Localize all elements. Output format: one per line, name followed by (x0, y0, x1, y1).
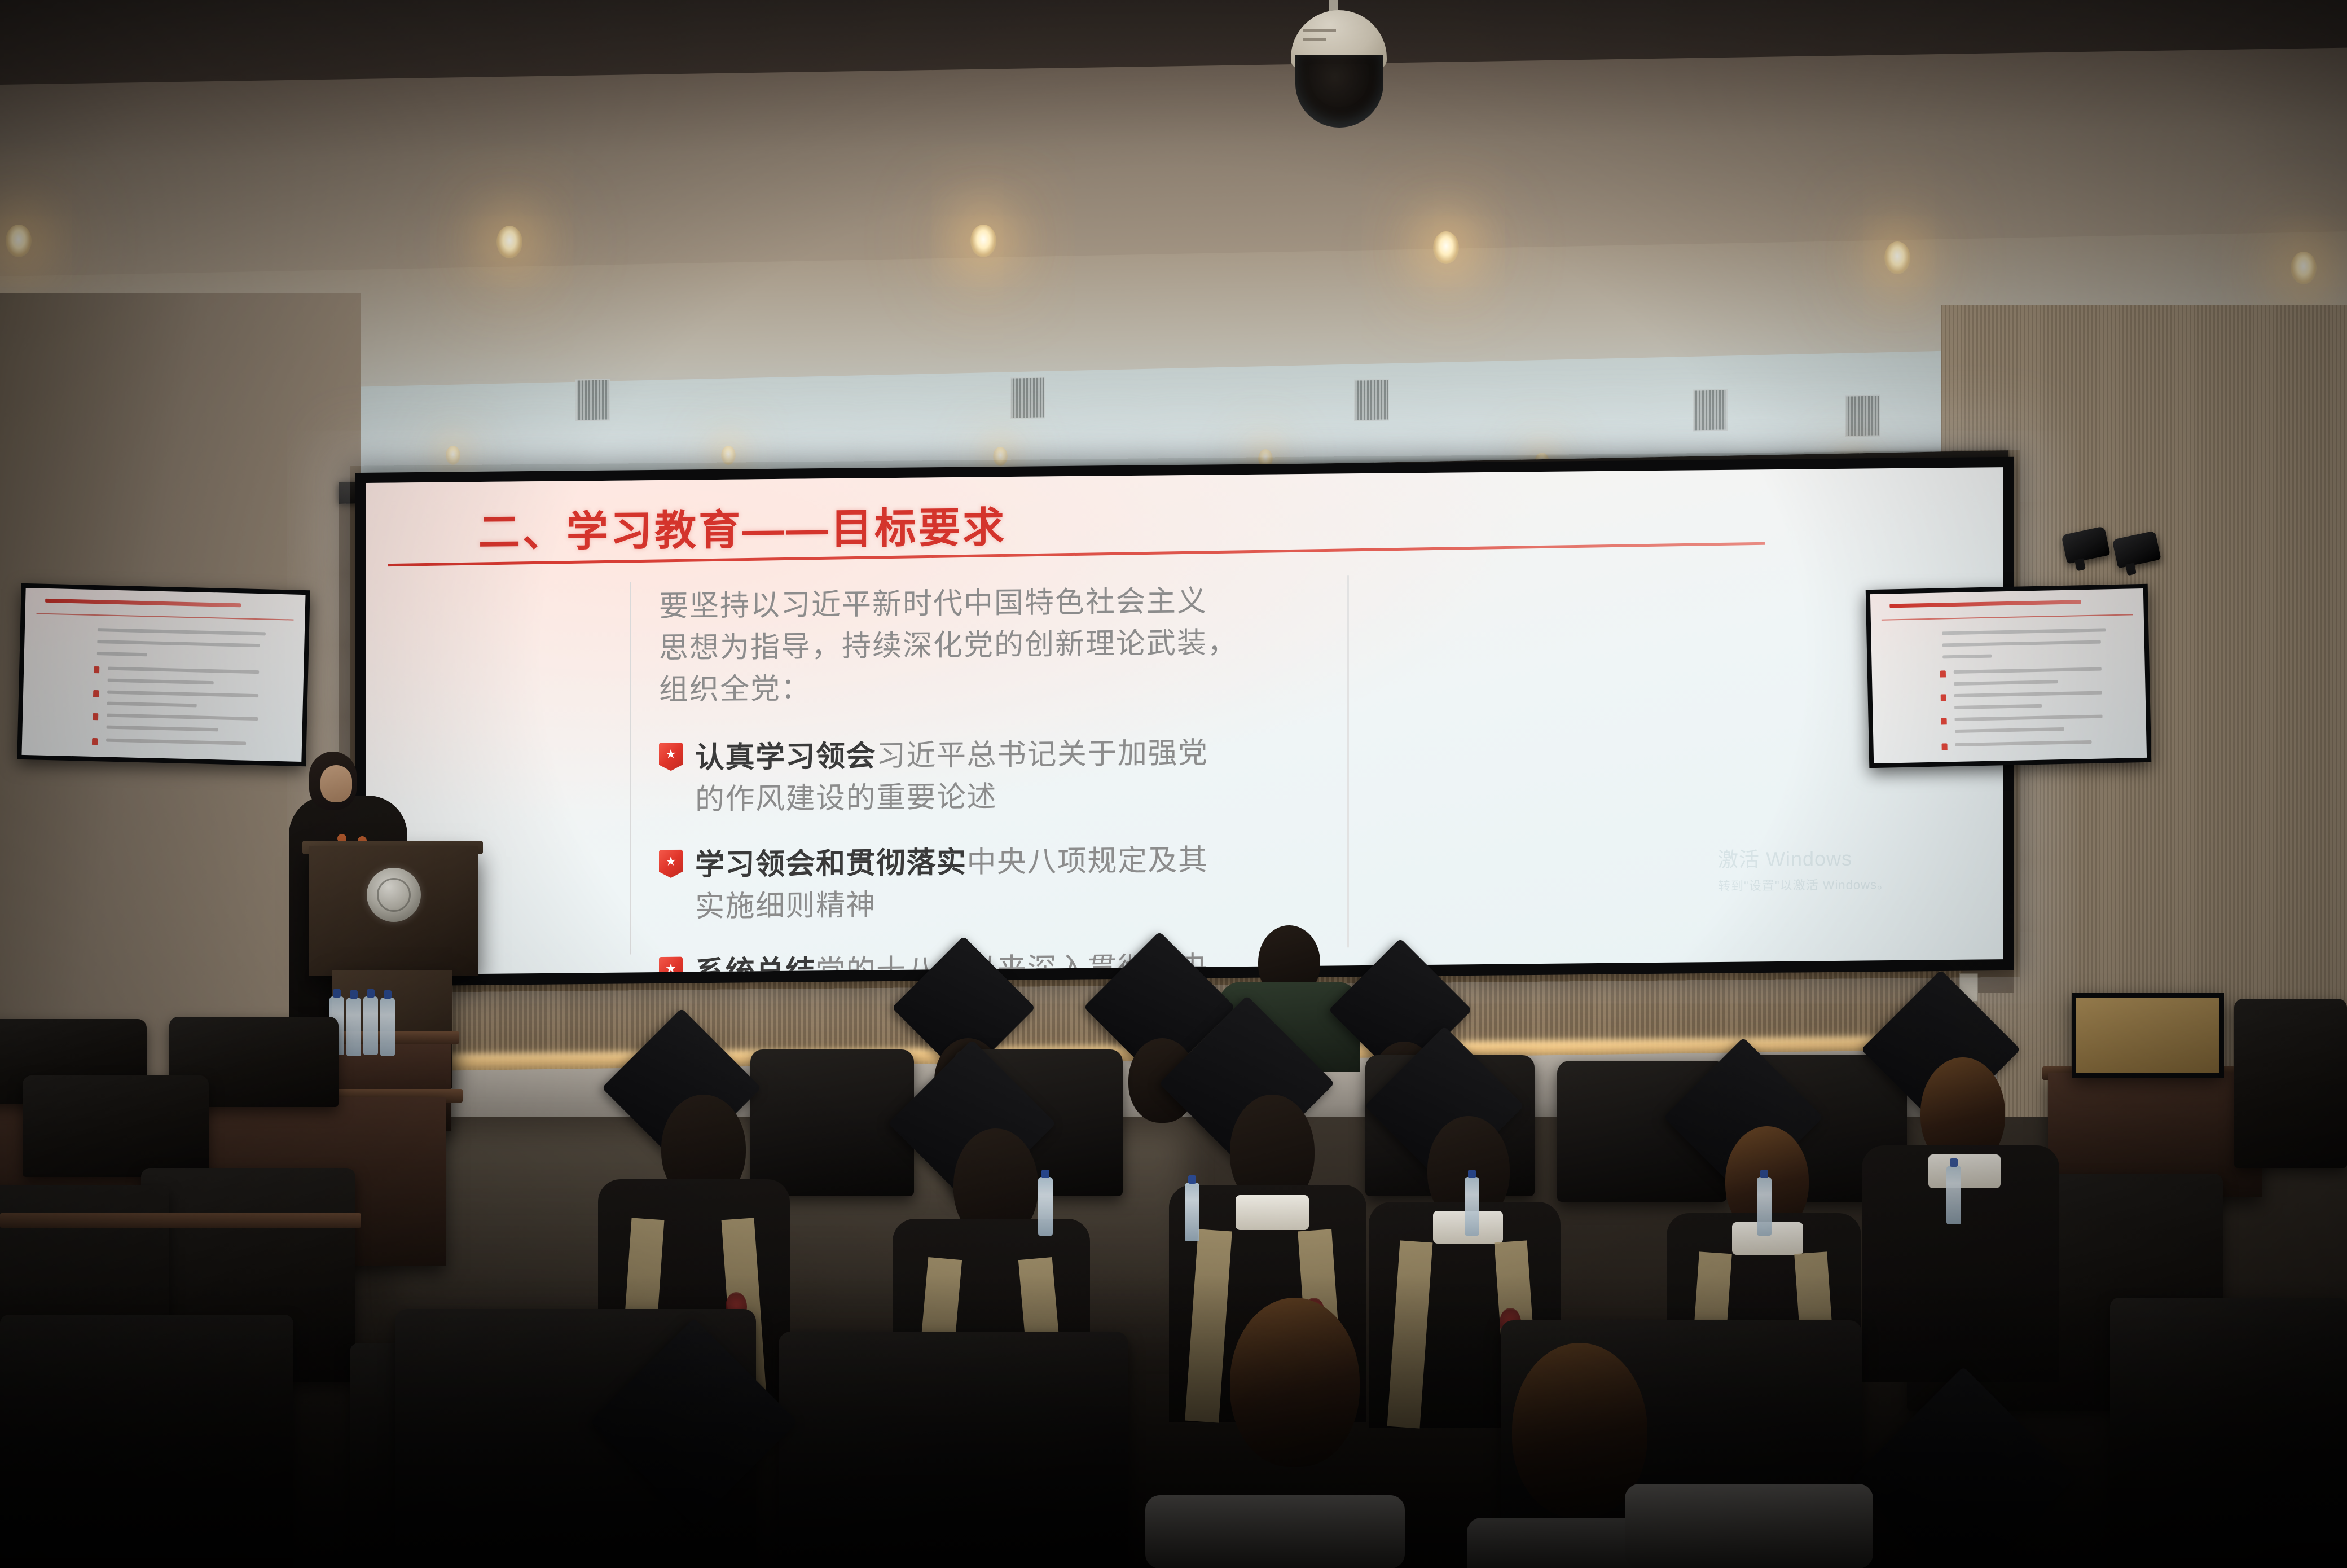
air-vent-icon (1845, 394, 1880, 437)
mini-bullet-icon (92, 738, 98, 745)
audience-collar (1928, 1154, 2001, 1188)
mini-text-line (97, 652, 147, 656)
left-monitor-screen (21, 588, 305, 762)
water-bottle-icon (346, 998, 361, 1056)
mini-text-line (106, 725, 218, 731)
seat-headrest (1145, 1495, 1405, 1568)
empty-chair[interactable] (2234, 999, 2347, 1168)
foreground-seatback[interactable] (779, 1332, 1128, 1568)
mini-bullet-icon (93, 713, 98, 720)
mini-text-line (98, 628, 266, 635)
mini-text-line (1955, 715, 2102, 721)
empty-chair[interactable] (23, 1075, 209, 1177)
presenter-face (320, 765, 352, 802)
slide-left-divider (630, 582, 631, 954)
empty-chair[interactable] (2110, 1298, 2347, 1568)
mini-text-line (107, 678, 214, 684)
mini-bullet-icon (1940, 670, 1946, 677)
conference-hall-scene: 二、学习教育——目标要求 要坚持以习近平新时代中国特色社会主义 思想为指导，持续… (0, 0, 2347, 1568)
water-bottle-icon (1185, 1183, 1199, 1241)
mini-text-line (1955, 727, 2064, 733)
camera-label-strip (1303, 29, 1336, 32)
mini-text-line (1955, 740, 2092, 746)
mini-bullet-icon (93, 690, 99, 697)
mini-text-line (1954, 680, 2058, 686)
left-wall-monitor[interactable] (17, 583, 310, 766)
slide-bullet-list: ★ 认真学习领会习近平总书记关于加强党 的作风建设的重要论述 ★ 学习领会和贯彻… (659, 732, 1353, 975)
ceiling-downlight-icon (993, 447, 1008, 466)
projection-screen[interactable]: 二、学习教育——目标要求 要坚持以习近平新时代中国特色社会主义 思想为指导，持续… (366, 467, 2003, 975)
slide-bullet-text: 学习领会和贯彻落实中央八项规定及其 实施细则精神 (695, 838, 1353, 928)
red-flag-bullet-icon: ★ (659, 850, 683, 878)
mini-text-line (107, 714, 258, 721)
seat-headrest (1625, 1484, 1873, 1568)
mini-text-line (1942, 628, 2106, 635)
water-bottle-icon (380, 998, 395, 1056)
slide-bullet-item: ★ 学习领会和贯彻落实中央八项规定及其 实施细则精神 (659, 838, 1353, 928)
mini-text-line (106, 739, 246, 745)
mini-text-line (1954, 704, 2042, 709)
camera-label-strip (1303, 38, 1326, 41)
slide-bullet-highlight: 学习领会和贯彻落实 (695, 846, 967, 882)
ceiling-downlight-icon (1433, 231, 1459, 264)
audience-desk-top (0, 1213, 361, 1228)
slide-intro-paragraph: 要坚持以习近平新时代中国特色社会主义 思想为指导，持续深化党的创新理论武装， 组… (659, 579, 1353, 711)
slide-body: 要坚持以习近平新时代中国特色社会主义 思想为指导，持续深化党的创新理论武装， 组… (659, 579, 1353, 975)
foreground-head (1230, 1298, 1360, 1467)
air-vent-icon (1693, 389, 1728, 431)
watermark-line-1: 激活 Windows (1718, 842, 1890, 873)
slide-bullet-highlight: 认真学习领会 (695, 740, 876, 775)
mini-slide-title (45, 599, 241, 607)
ceiling-downlight-icon (721, 446, 736, 465)
empty-chair[interactable] (0, 1315, 293, 1568)
water-bottle-icon (363, 996, 378, 1055)
mini-text-line (108, 667, 259, 674)
mini-text-line (107, 690, 258, 697)
mini-text-line (1942, 655, 1992, 659)
water-bottle-icon (1946, 1166, 1961, 1224)
mini-bullet-icon (1941, 743, 1947, 750)
ceiling-downlight-icon (1884, 241, 1910, 274)
slide-title: 二、学习教育——目标要求 (478, 494, 1007, 559)
institution-emblem-icon (367, 868, 421, 922)
desk-monitor[interactable] (2072, 993, 2224, 1078)
mini-slide-title (1889, 600, 2081, 608)
mini-text-line (1954, 691, 2102, 697)
air-vent-icon (1354, 379, 1389, 421)
slide-bullet-item: ★ 认真学习领会习近平总书记关于加强党 的作风建设的重要论述 (659, 732, 1353, 822)
desk-monitor-screen (2076, 998, 2219, 1073)
mini-text-line (1942, 640, 2101, 647)
red-flag-bullet-icon: ★ (659, 743, 683, 771)
slide-bullet-text: 认真学习领会习近平总书记关于加强党 的作风建设的重要论述 (695, 732, 1353, 822)
right-monitor-screen (1870, 588, 2147, 763)
windows-activation-watermark: 激活 Windows 转到"设置"以激活 Windows。 (1718, 842, 1890, 894)
water-bottle-icon (1757, 1177, 1772, 1236)
air-vent-icon (575, 379, 610, 421)
mini-slide-rule (1882, 614, 2133, 620)
water-bottle-icon (1038, 1177, 1053, 1236)
ceiling-downlight-icon (6, 225, 32, 257)
ceiling-downlight-icon (446, 446, 460, 465)
mini-bullet-icon (1941, 694, 1946, 701)
mini-text-line (107, 702, 196, 708)
air-vent-icon (1010, 376, 1045, 419)
right-wall-monitor[interactable] (1866, 584, 2152, 768)
ceiling-downlight-icon (970, 225, 996, 257)
audience-collar (1236, 1195, 1309, 1230)
water-bottle-icon (1465, 1177, 1479, 1236)
mini-text-line (97, 640, 260, 647)
watermark-line-2: 转到"设置"以激活 Windows。 (1718, 875, 1890, 894)
mini-slide-rule (36, 613, 293, 621)
mini-bullet-icon (1941, 718, 1947, 724)
mini-bullet-icon (94, 666, 99, 673)
ceiling-downlight-icon (496, 226, 522, 258)
ceiling-downlight-icon (2291, 252, 2317, 284)
mini-text-line (1954, 667, 2101, 674)
